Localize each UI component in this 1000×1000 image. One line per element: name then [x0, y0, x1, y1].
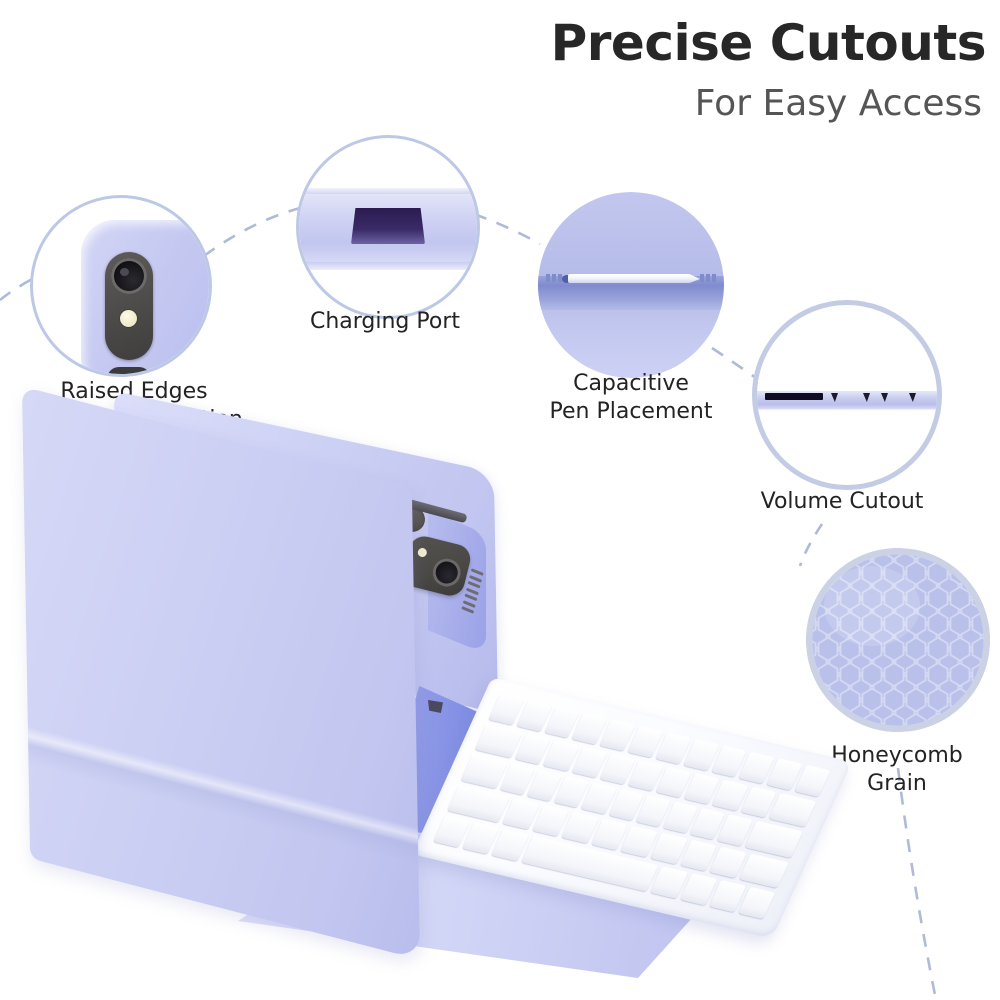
infographic-canvas: Precise Cutouts For Easy Access Raised E… [0, 0, 1000, 1000]
magnet-dots-left [546, 274, 562, 282]
case-corner-shape [81, 220, 212, 377]
magnet-dots-right [700, 274, 716, 282]
camera-lens-icon [430, 556, 464, 590]
callout-circle-raised-edges [30, 195, 212, 377]
connector-1-to-2 [204, 208, 300, 256]
usb-c-port-cutout [351, 208, 425, 244]
connector-2-to-3 [474, 214, 540, 244]
product-image-tablet-keyboard-case [0, 410, 880, 990]
callout-label-charging-port: Charging Port [255, 308, 515, 336]
callout-circle-charging-port [296, 135, 480, 319]
connector-5-down [898, 768, 936, 1000]
camera-flash-icon [417, 547, 428, 558]
volume-button-slot [765, 393, 823, 400]
camera-flash-icon [120, 310, 137, 327]
edge-highlight-bottom [296, 262, 480, 270]
callout-circle-capacitive-pen [538, 192, 724, 378]
camera-lens-icon [111, 258, 147, 294]
capacitive-pen-icon [568, 274, 700, 283]
camera-island [105, 252, 153, 360]
connector-left-edge [0, 278, 34, 300]
